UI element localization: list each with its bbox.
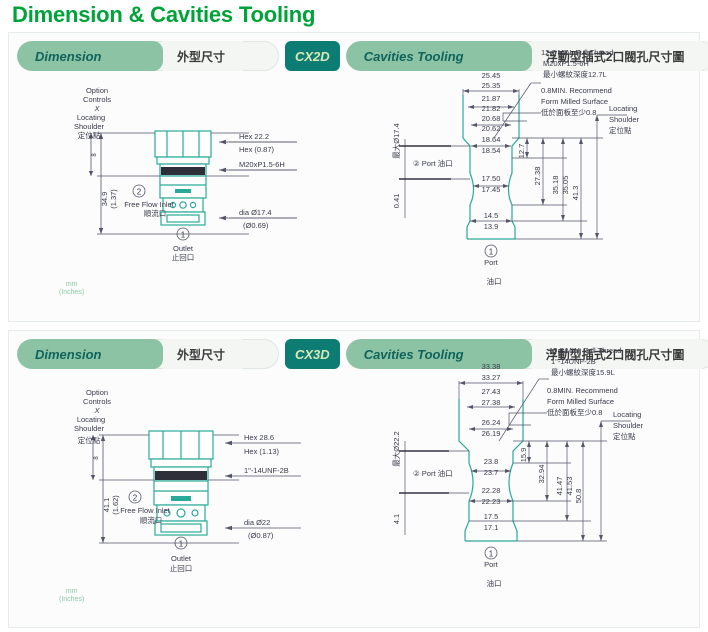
callout-locating-cn: 定位點	[609, 125, 632, 135]
unit-note-inches: (Inches)	[59, 289, 84, 297]
label-hex-in: Hex (0.87)	[239, 145, 275, 154]
callout-thread-cn: 最小螺紋深度12.7L	[543, 69, 607, 79]
cavity-depth-3: 35.18	[551, 176, 560, 195]
cavity-depth-2: 32.94	[537, 465, 546, 484]
cavity-dim-w5-lo: 17.45	[482, 185, 501, 194]
cavity-drawing-cx2d: 1 25.45 25.35 21.87 21.82 20.68 20.62 18…	[391, 43, 708, 273]
cavity-depth-4: 41.53	[565, 477, 574, 496]
cavity-dim-w5-lo: 22.23	[482, 497, 501, 506]
label-height-mm: 34.9	[100, 192, 109, 207]
label-dia-mm: dia Ø17.4	[239, 208, 272, 217]
callout-locating-2: Shoulder	[613, 421, 644, 430]
callout-surface-min: 0.8MIN. Recommend	[547, 386, 618, 395]
cavity-left-small: 4.1	[392, 514, 401, 524]
label-option: Option	[86, 86, 108, 95]
callout-port1-cn: 油口	[479, 578, 509, 589]
label-thread: M20xP1.5-6H	[239, 160, 285, 169]
callout-surface-cn: 低於面板至少0.8	[547, 407, 602, 417]
dimension-drawing-cx2d: 1 2 Option Controls X Locating Shoulder …	[39, 81, 359, 311]
label-hex-mm: Hex 22.2	[239, 132, 269, 141]
cavity-dim-w6-hi: 17.5	[484, 512, 499, 521]
cavity-drawing-cx3d: 1 33.38 33.27 27.43 27.38 26.24 26.19 23…	[391, 341, 708, 576]
label-height-in: (1.37)	[109, 189, 118, 209]
label-x: X	[93, 406, 100, 415]
svg-text:1: 1	[181, 231, 186, 240]
cavity-depth-4: 35.05	[561, 176, 570, 195]
label-controls: Controls	[83, 397, 111, 406]
svg-text:1: 1	[489, 550, 494, 559]
callout-thread-spec: M20xP1.5-6H	[543, 59, 589, 68]
tab-dimension-cx2d[interactable]: Dimension 外型尺寸	[17, 41, 279, 71]
cavity-depth-1: 12.7	[517, 144, 526, 159]
cavity-dim-w1-hi: 25.45	[482, 71, 501, 80]
label-thread: 1"-14UNF-2B	[244, 466, 289, 475]
dimension-drawing-cx3d: 1 2 Option Controls X Locating Shoulder …	[39, 383, 359, 618]
tab-dimension-label: Dimension	[17, 41, 163, 71]
label-controls: Controls	[83, 95, 111, 104]
tab-dimension-cx3d[interactable]: Dimension 外型尺寸	[17, 339, 279, 369]
cavity-dim-w1-lo: 25.35	[482, 81, 501, 90]
cavity-depth-5: 50.8	[574, 489, 583, 504]
unit-note-cx3d: mm (Inches)	[59, 588, 84, 604]
unit-note-mm: mm	[59, 281, 84, 289]
svg-text:2: 2	[137, 188, 142, 197]
callout-thread-spec: 1"-14UNF-2B	[551, 357, 596, 366]
callout-locating-2: Shoulder	[609, 115, 640, 124]
cavity-depth-5: 41.3	[571, 186, 580, 201]
callout-surface-min: 0.8MIN. Recommend	[541, 86, 612, 95]
callout-locating-cn: 定位點	[613, 431, 636, 441]
unit-note-mm: mm	[59, 588, 84, 596]
label-locating: Locating	[77, 113, 105, 122]
cavity-dim-w6-hi: 14.5	[484, 211, 499, 220]
cavity-depth-1: 15.9	[519, 448, 528, 463]
svg-text:2: 2	[133, 494, 138, 503]
callout-port2: ② Port 油口	[413, 468, 453, 478]
label-hex-in: Hex (1.13)	[244, 447, 280, 456]
tab-dimension-label-cn: 外型尺寸	[163, 41, 243, 71]
callout-port1: Port	[484, 560, 499, 569]
cavity-left-dia: 最大Ø17.4	[391, 123, 401, 158]
cavity-dim-w4-lo: 18.54	[482, 146, 501, 155]
callout-thread-cn: 最小螺紋深度15.9L	[551, 367, 615, 377]
tab-dimension-label: Dimension	[17, 339, 163, 369]
label-locating: Locating	[77, 415, 105, 424]
unit-note-cx2d: mm (Inches)	[59, 281, 84, 297]
cavity-dim-w6-lo: 13.9	[484, 222, 499, 231]
cavity-dim-w5-hi: 17.50	[482, 174, 501, 183]
cavity-dim-w4-hi: 18.64	[482, 135, 501, 144]
callout-thread-full: 15.9 MIN. Full Thread	[549, 346, 621, 355]
label-outlet-cn: 止回口	[170, 563, 193, 573]
callout-surface-cn: 低於面板至少0.8	[541, 107, 596, 117]
label-outlet-cn: 止回口	[172, 252, 195, 262]
cavity-dim-w3-hi: 26.24	[482, 418, 501, 427]
callout-surface-form: Form Milled Surface	[541, 97, 608, 106]
label-free-flow: Free Flow Inlet	[120, 506, 171, 515]
tab-dimension-label-cn: 外型尺寸	[163, 339, 243, 369]
cavity-dim-w1-hi: 33.38	[482, 362, 501, 371]
unit-note-inches: (Inches)	[59, 596, 84, 604]
cavity-dim-w6-lo: 17.1	[484, 523, 499, 532]
model-badge-cx2d[interactable]: CX2D	[285, 41, 340, 71]
label-x: X	[93, 104, 100, 113]
label-free-flow: Free Flow Inlet	[124, 200, 175, 209]
label-shoulder-cn: 定位點	[78, 435, 101, 445]
label-height-in: (1.62)	[111, 495, 120, 515]
label-outlet: Outlet	[171, 554, 192, 563]
label-free-flow-cn: 順流口	[144, 208, 167, 218]
cavity-dim-w3-lo: 20.62	[482, 124, 501, 133]
cavity-left-dia: 最大Ø22.2	[391, 431, 401, 466]
page-title: Dimension & Cavities Tooling	[12, 2, 315, 28]
label-hex-mm: Hex 28.6	[244, 433, 274, 442]
label-shoulder-cn: 定位點	[78, 130, 101, 140]
svg-text:1: 1	[179, 540, 184, 549]
cavity-dim-w3-hi: 20.68	[482, 114, 501, 123]
section-cx3d: Dimension 外型尺寸 CX3D Cavities Tooling 浮動型…	[8, 330, 700, 628]
label-dia-in: (Ø0.69)	[243, 221, 269, 230]
label-dia-in: (Ø0.87)	[248, 531, 274, 540]
callout-port1: Port	[484, 258, 499, 267]
cavity-dim-w1-lo: 33.27	[482, 373, 501, 382]
label-dia-mm: dia Ø22	[244, 518, 270, 527]
callout-locating-1: Locating	[613, 410, 641, 419]
label-height-mm: 41.1	[102, 498, 111, 513]
cavity-dim-w2-lo: 21.82	[482, 104, 501, 113]
label-outlet: Outlet	[173, 244, 194, 253]
cavity-dim-w2-hi: 27.43	[482, 387, 501, 396]
label-free-flow-cn: 順流口	[140, 515, 163, 525]
label-shoulder: Shoulder	[74, 122, 105, 131]
label-shoulder-small: 8	[92, 153, 98, 157]
callout-port1-cn: 油口	[479, 276, 509, 287]
callout-port2: ② Port 油口	[413, 158, 453, 168]
cavity-depth-3: 41.47	[555, 477, 564, 496]
label-shoulder-small: 8	[94, 456, 100, 460]
cavity-left-small: 0.41	[392, 194, 401, 209]
callout-thread-full: 12.7 MIN. Full Thread	[541, 48, 613, 57]
label-option: Option	[86, 388, 108, 397]
callout-locating-1: Locating	[609, 104, 637, 113]
callout-surface-form: Form Milled Surface	[547, 397, 614, 406]
cavity-dim-w2-lo: 27.38	[482, 398, 501, 407]
label-shoulder: Shoulder	[74, 424, 105, 433]
section-cx2d: Dimension 外型尺寸 CX2D Cavities Tooling 浮動型…	[8, 32, 700, 322]
cavity-dim-w2-hi: 21.87	[482, 94, 501, 103]
svg-text:1: 1	[489, 248, 494, 257]
model-badge-cx3d[interactable]: CX3D	[285, 339, 340, 369]
cavity-depth-2: 27.38	[533, 167, 542, 186]
cavity-dim-w5-hi: 22.28	[482, 486, 501, 495]
cavity-dim-w4-lo: 23.7	[484, 468, 499, 477]
cavity-dim-w4-hi: 23.8	[484, 457, 499, 466]
cavity-dim-w3-lo: 26.19	[482, 429, 501, 438]
